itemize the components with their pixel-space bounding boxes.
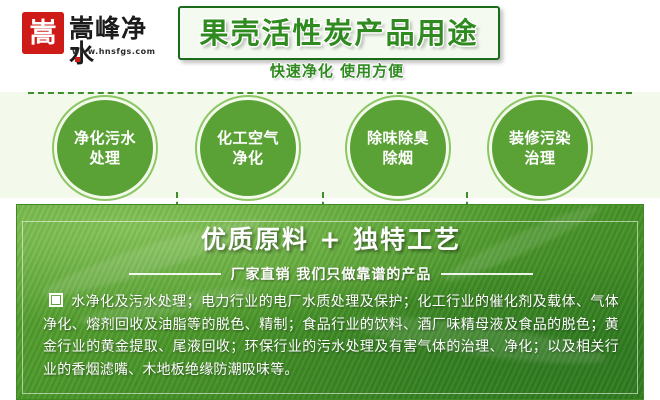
square-bullet-icon — [49, 293, 63, 307]
seal-character: 嵩 — [30, 20, 57, 47]
panel-title: 优质原料 + 独特工艺 — [17, 227, 644, 252]
page-title: 果壳活性炭产品用途 — [199, 19, 478, 48]
feature-circles: 净化污水 处理 化工空气 净化 除味除臭 除烟 装修污染 治理 — [0, 96, 660, 196]
page-subtitle: 快速净化 使用方便 — [178, 60, 496, 81]
feature-circle-0[interactable]: 净化污水 处理 — [57, 100, 153, 196]
promo-banner: 嵩 嵩峰净水 www.hnsfgs.com 果壳活性炭产品用途 快速净化 使用方… — [0, 0, 660, 400]
panel-subtitle-row: 厂家直销 我们只做靠谱的产品 — [17, 264, 644, 284]
brand-logo: 嵩 嵩峰净水 www.hnsfgs.com — [22, 12, 162, 60]
feature-circle-label: 净化污水 处理 — [74, 128, 136, 169]
feature-circle-3[interactable]: 装修污染 治理 — [492, 100, 588, 196]
feature-circle-label: 装修污染 治理 — [509, 128, 571, 169]
feature-circle-1[interactable]: 化工空气 净化 — [200, 100, 296, 196]
panel-subtitle: 厂家直销 我们只做靠谱的产品 — [231, 264, 432, 284]
feature-circle-label: 化工空气 净化 — [217, 128, 279, 169]
dashed-divider-horizontal — [28, 92, 632, 94]
content-panel: 优质原料 + 独特工艺 厂家直销 我们只做靠谱的产品 水净化及污水处理；电力行业… — [16, 204, 644, 400]
panel-header: 优质原料 + 独特工艺 厂家直销 我们只做靠谱的产品 — [17, 227, 644, 284]
feature-circle-2[interactable]: 除味除臭 除烟 — [350, 100, 446, 196]
brand-url-text: www.hnsfgs.com — [72, 47, 155, 56]
rule-right — [441, 273, 533, 275]
rule-left — [129, 273, 221, 275]
title-box: 果壳活性炭产品用途 — [178, 6, 500, 60]
panel-body-text: 水净化及污水处理；电力行业的电厂水质处理及保护；化工行业的催化剂及载体、气体净化… — [43, 294, 619, 378]
red-square-icon — [75, 57, 80, 62]
panel-body: 水净化及污水处理；电力行业的电厂水质处理及保护；化工行业的催化剂及载体、气体净化… — [43, 291, 619, 382]
feature-circle-label: 除味除臭 除烟 — [367, 128, 429, 169]
seal-stamp-icon: 嵩 — [22, 12, 64, 54]
brand-url: www.hnsfgs.com — [72, 47, 162, 65]
header: 嵩 嵩峰净水 www.hnsfgs.com 果壳活性炭产品用途 快速净化 使用方… — [0, 0, 660, 92]
